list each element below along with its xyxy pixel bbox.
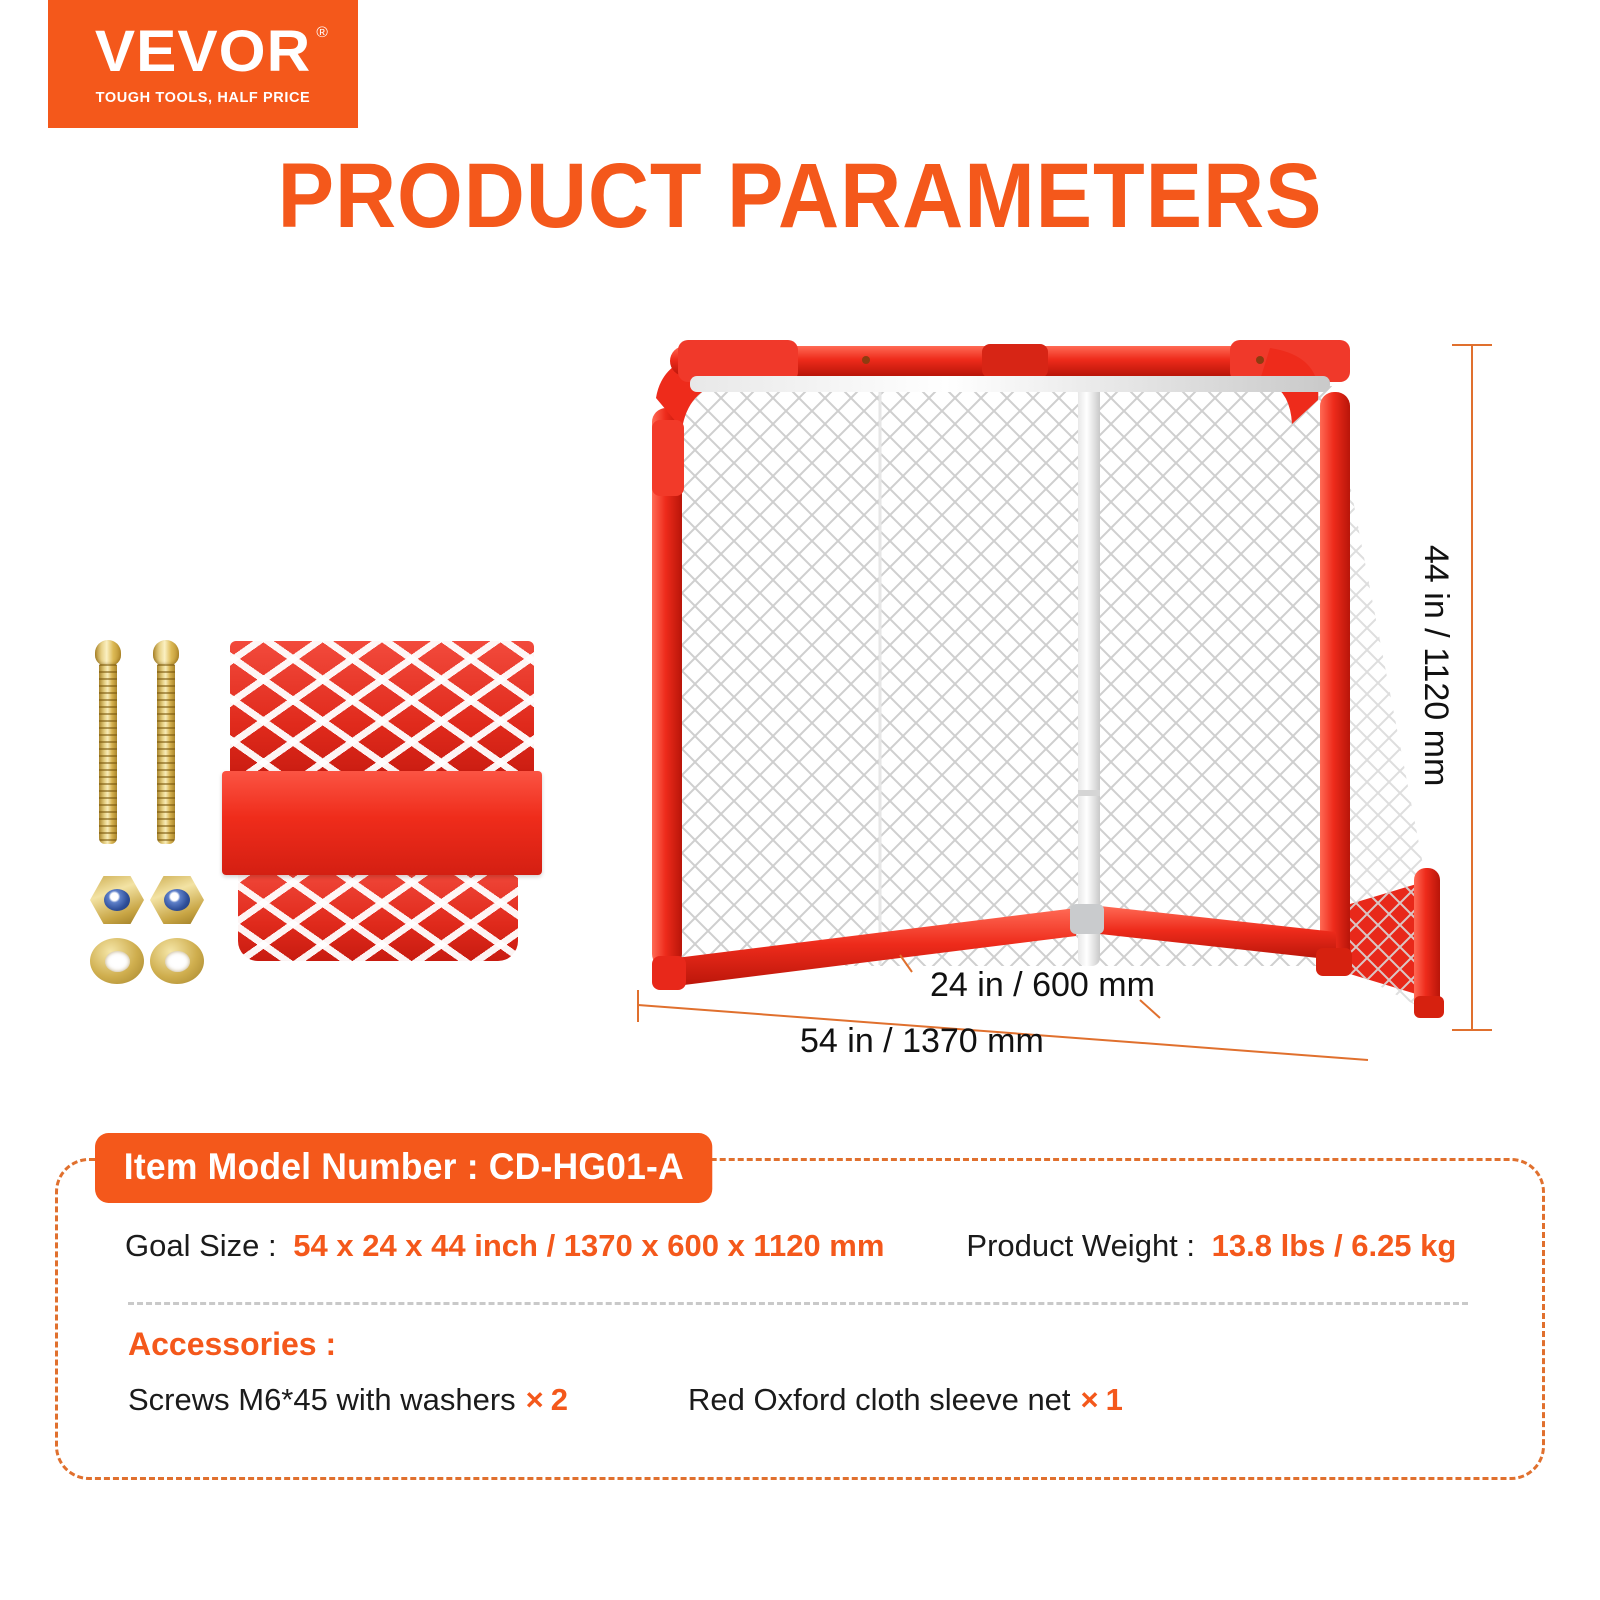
- registered-trademark-icon: ®: [316, 25, 329, 40]
- list-item: Screws M6*45 with washers×2: [128, 1382, 568, 1418]
- accessories-title: Accessories :: [128, 1326, 336, 1363]
- accessory-count: 1: [1106, 1382, 1123, 1417]
- multiply-icon: ×: [526, 1382, 544, 1417]
- list-item: Red Oxford cloth sleeve net×1: [688, 1382, 1123, 1418]
- accessory-count: 2: [551, 1382, 568, 1417]
- dimension-depth-label: 24 in / 600 mm: [930, 966, 1155, 1005]
- brand-name: VEVOR®: [95, 23, 311, 81]
- dimension-lines: [0, 300, 1600, 1100]
- dimension-height-label: 44 in / 1120 mm: [1416, 545, 1455, 786]
- accessory-name: Screws M6*45 with washers: [128, 1382, 516, 1417]
- brand-tagline: TOUGH TOOLS, HALF PRICE: [96, 90, 311, 106]
- multiply-icon: ×: [1081, 1382, 1099, 1417]
- brand-name-text: VEVOR: [95, 19, 311, 84]
- model-number-label: Item Model Number :: [124, 1146, 489, 1187]
- goal-size-label: Goal Size :: [125, 1228, 285, 1263]
- model-number-badge: Item Model Number : CD-HG01-A: [95, 1133, 713, 1203]
- product-weight-label: Product Weight :: [966, 1228, 1203, 1263]
- dimension-width-label: 54 in / 1370 mm: [800, 1022, 1044, 1061]
- model-number-value: CD-HG01-A: [489, 1146, 684, 1187]
- page-title: PRODUCT PARAMETERS: [64, 150, 1536, 242]
- spec-divider: [128, 1302, 1468, 1305]
- brand-logo-box: VEVOR® TOUGH TOOLS, HALF PRICE: [48, 0, 358, 128]
- accessories-list: Screws M6*45 with washers×2 Red Oxford c…: [128, 1382, 1123, 1418]
- spec-panel: [55, 1158, 1545, 1480]
- goal-size-field: Goal Size : 54 x 24 x 44 inch / 1370 x 6…: [125, 1228, 884, 1264]
- product-weight-field: Product Weight : 13.8 lbs / 6.25 kg: [966, 1228, 1456, 1264]
- product-weight-value: 13.8 lbs / 6.25 kg: [1212, 1228, 1457, 1263]
- accessory-name: Red Oxford cloth sleeve net: [688, 1382, 1071, 1417]
- product-illustration: [0, 300, 1600, 1100]
- spec-primary-row: Goal Size : 54 x 24 x 44 inch / 1370 x 6…: [125, 1228, 1475, 1264]
- goal-size-value: 54 x 24 x 44 inch / 1370 x 600 x 1120 mm: [293, 1228, 884, 1263]
